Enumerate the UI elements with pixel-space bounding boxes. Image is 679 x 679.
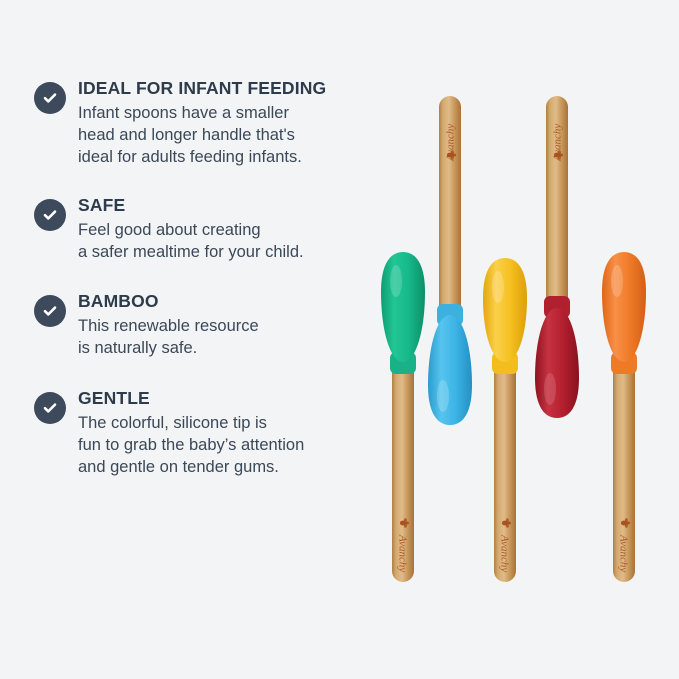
feature-title: IDEAL FOR INFANT FEEDING: [78, 78, 374, 100]
feature-item-safe: SAFE Feel good about creating a safer me…: [34, 195, 374, 264]
brand-engraving-red: Avanchy: [552, 124, 564, 162]
feature-body-line: a safer mealtime for your child.: [78, 242, 374, 264]
orange-spoon-highlight: [611, 265, 623, 297]
feature-title: SAFE: [78, 195, 374, 217]
product-image-spoon-set: Avanchy Avanchy Avanchy: [370, 0, 679, 679]
feature-body-line: Feel good about creating: [78, 220, 374, 242]
brand-wordmark: Avanchy: [498, 534, 510, 572]
check-circle-icon: [34, 82, 66, 114]
brand-wordmark: Avanchy: [617, 534, 629, 572]
feature-body-line: fun to grab the baby’s attention: [78, 435, 374, 457]
brand-wordmark: Avanchy: [552, 124, 564, 162]
brand-wordmark: Avanchy: [396, 534, 408, 572]
feature-item-gentle: GENTLE The colorful, silicone tip is fun…: [34, 388, 374, 479]
orange-spoon-bowl: [602, 252, 646, 362]
blue-spoon-highlight: [437, 380, 449, 412]
red-spoon-bowl: [535, 308, 579, 418]
feature-title: GENTLE: [78, 388, 374, 410]
check-circle-icon: [34, 199, 66, 231]
green-spoon: Avanchy: [381, 252, 425, 582]
feature-title: BAMBOO: [78, 291, 374, 313]
check-circle-icon: [34, 295, 66, 327]
green-spoon-highlight: [390, 265, 402, 297]
orange-spoon: Avanchy: [602, 252, 646, 582]
infographic-canvas: IDEAL FOR INFANT FEEDING Infant spoons h…: [0, 0, 679, 679]
blue-spoon-bowl: [428, 315, 472, 425]
yellow-spoon: Avanchy: [483, 258, 527, 582]
feature-list: IDEAL FOR INFANT FEEDING Infant spoons h…: [34, 78, 374, 505]
feature-body-line: and gentle on tender gums.: [78, 457, 374, 479]
feature-body-line: The colorful, silicone tip is: [78, 413, 374, 435]
feature-body-line: Infant spoons have a smaller: [78, 103, 374, 125]
yellow-spoon-bowl: [483, 258, 527, 362]
feature-item-ideal-for-infant-feeding: IDEAL FOR INFANT FEEDING Infant spoons h…: [34, 78, 374, 169]
feature-body-line: This renewable resource: [78, 316, 374, 338]
brand-wordmark: Avanchy: [445, 124, 457, 162]
green-spoon-bowl: [381, 252, 425, 362]
feature-body-line: head and longer handle that's: [78, 125, 374, 147]
check-circle-icon: [34, 392, 66, 424]
feature-item-bamboo: BAMBOO This renewable resource is natura…: [34, 291, 374, 360]
red-spoon-highlight: [544, 373, 556, 405]
feature-body-line: is naturally safe.: [78, 338, 374, 360]
red-spoon: Avanchy: [535, 96, 579, 418]
brand-engraving-blue: Avanchy: [445, 124, 457, 162]
yellow-spoon-highlight: [492, 271, 504, 303]
feature-body-line: ideal for adults feeding infants.: [78, 147, 374, 169]
blue-spoon: Avanchy: [428, 96, 472, 425]
